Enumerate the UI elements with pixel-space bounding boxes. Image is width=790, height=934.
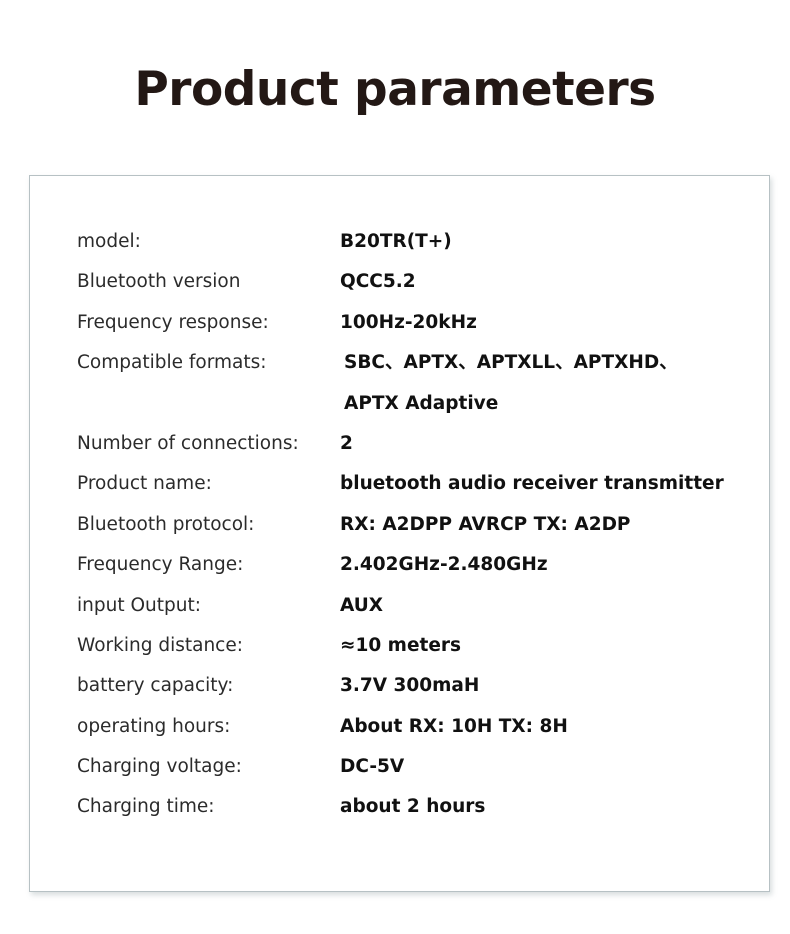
spec-row: Working distance: ≈10 meters — [77, 626, 737, 666]
spec-label: Bluetooth protocol: — [77, 505, 340, 545]
spec-value: 100Hz-20kHz — [340, 303, 737, 343]
spec-row: Compatible formats: SBC、APTX、APTXLL、APTX… — [77, 343, 737, 383]
spec-label: Product name: — [77, 464, 340, 504]
spec-row: Product name: bluetooth audio receiver t… — [77, 464, 737, 504]
spec-value: About RX: 10H TX: 8H — [340, 707, 737, 747]
spec-value: RX: A2DPP AVRCP TX: A2DP — [340, 505, 737, 545]
spec-row: model: B20TR(T+) — [77, 222, 737, 262]
spec-label: operating hours: — [77, 707, 340, 747]
spec-label: Charging time: — [77, 787, 340, 827]
spec-label: Compatible formats: — [77, 343, 340, 383]
spec-label: Bluetooth version — [77, 262, 340, 302]
spec-row: input Output: AUX — [77, 586, 737, 626]
spec-row: Charging voltage: DC-5V — [77, 747, 737, 787]
spec-value: about 2 hours — [340, 787, 737, 827]
spec-value: AUX — [340, 586, 737, 626]
spec-value: APTX Adaptive — [340, 384, 737, 424]
specifications-card: model: B20TR(T+) Bluetooth version QCC5.… — [29, 175, 770, 892]
spec-label: Number of connections: — [77, 424, 340, 464]
spec-value: 2.402GHz-2.480GHz — [340, 545, 737, 585]
product-parameters-page: Product parameters model: B20TR(T+) Blue… — [0, 0, 790, 934]
spec-row: Bluetooth protocol: RX: A2DPP AVRCP TX: … — [77, 505, 737, 545]
spec-value: bluetooth audio receiver transmitter — [340, 464, 737, 504]
page-title: Product parameters — [0, 62, 790, 118]
spec-row-continuation: APTX Adaptive — [77, 384, 737, 424]
spec-row: operating hours: About RX: 10H TX: 8H — [77, 707, 737, 747]
spec-label: battery capacity: — [77, 666, 340, 706]
spec-label: model: — [77, 222, 340, 262]
spec-row: Charging time: about 2 hours — [77, 787, 737, 827]
spec-value: B20TR(T+) — [340, 222, 737, 262]
spec-label: Frequency Range: — [77, 545, 340, 585]
spec-row: Frequency response: 100Hz-20kHz — [77, 303, 737, 343]
spec-label: Working distance: — [77, 626, 340, 666]
spec-row: battery capacity: 3.7V 300maH — [77, 666, 737, 706]
spec-value: DC-5V — [340, 747, 737, 787]
spec-value: 3.7V 300maH — [340, 666, 737, 706]
spec-label: Charging voltage: — [77, 747, 340, 787]
spec-label: Frequency response: — [77, 303, 340, 343]
spec-value: 2 — [340, 424, 737, 464]
spec-value: QCC5.2 — [340, 262, 737, 302]
spec-row: Frequency Range: 2.402GHz-2.480GHz — [77, 545, 737, 585]
spec-row: Bluetooth version QCC5.2 — [77, 262, 737, 302]
spec-value: ≈10 meters — [340, 626, 737, 666]
spec-row: Number of connections: 2 — [77, 424, 737, 464]
specifications-table: model: B20TR(T+) Bluetooth version QCC5.… — [77, 222, 737, 828]
spec-value: SBC、APTX、APTXLL、APTXHD、 — [340, 343, 737, 383]
spec-label: input Output: — [77, 586, 340, 626]
